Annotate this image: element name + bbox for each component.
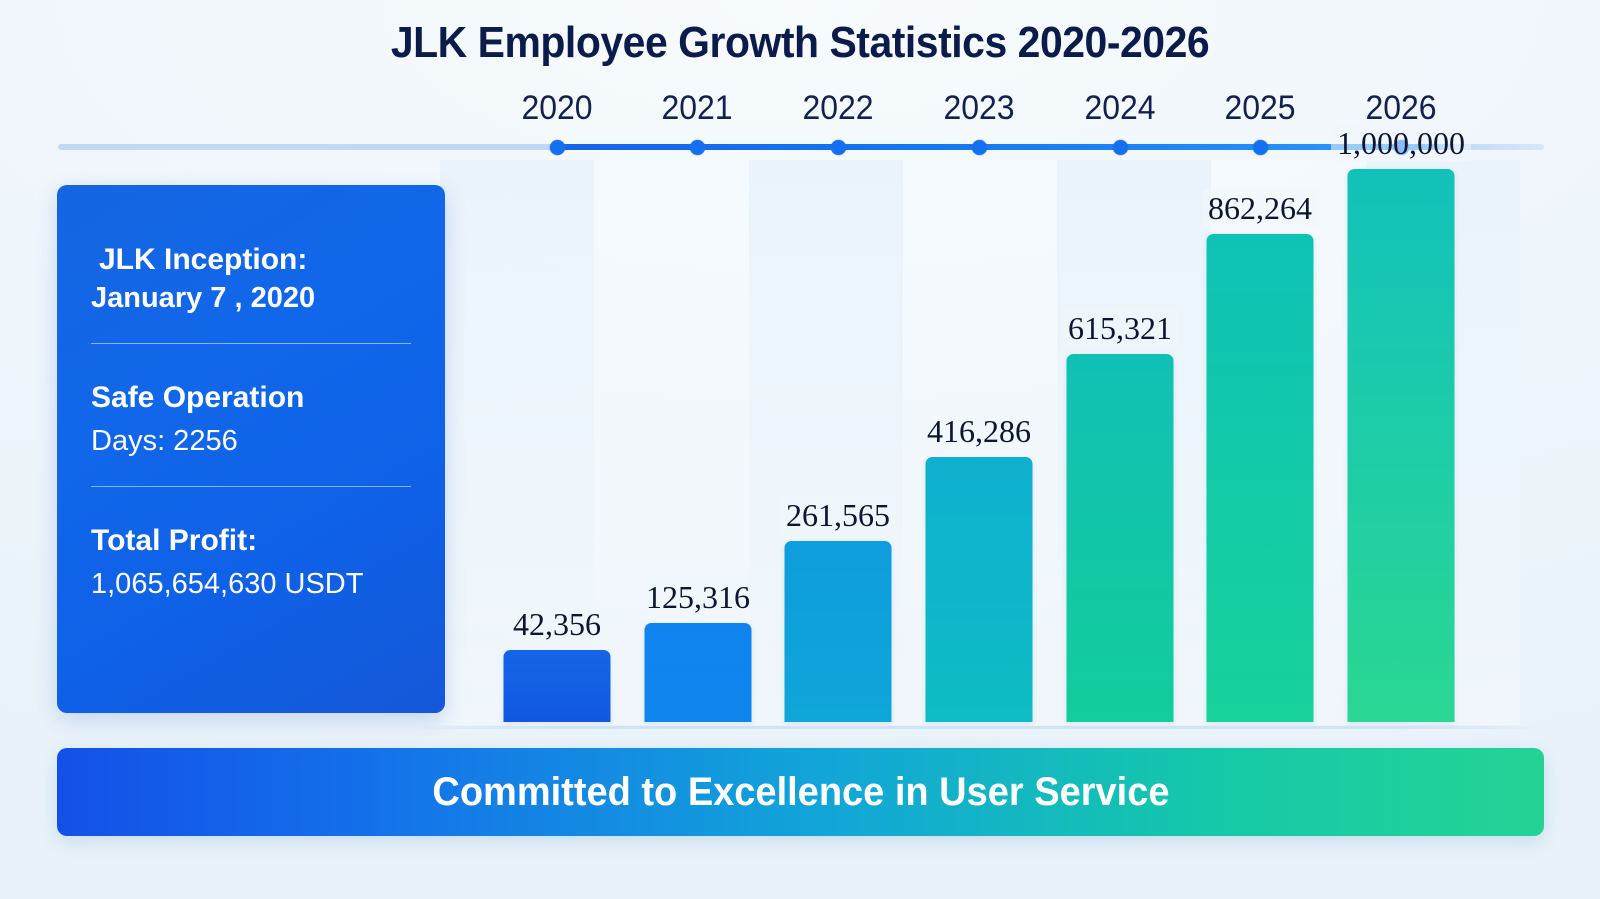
timeline-dot-icon — [550, 140, 565, 155]
info-card: JLK Inception: January 7 , 2020 Safe Ope… — [57, 185, 445, 713]
timeline-dot-icon — [972, 140, 987, 155]
timeline-dot-icon — [1253, 140, 1268, 155]
timeline-dot-icon — [690, 140, 705, 155]
bar-value-label: 125,316 — [640, 578, 756, 616]
bar-value-label: 615,321 — [1062, 309, 1178, 347]
infographic-root: JLK Employee Growth Statistics 2020-2026… — [0, 0, 1600, 899]
year-tick-2026[interactable]: 2026 — [1331, 88, 1471, 128]
bar-group-2020[interactable]: 42,356 — [480, 160, 634, 727]
footer-banner-text: Committed to Excellence in User Service — [432, 770, 1169, 815]
bar[interactable] — [645, 623, 752, 722]
page-title: JLK Employee Growth Statistics 2020-2026 — [56, 18, 1544, 68]
year-label: 2024 — [1054, 88, 1186, 128]
info-card-section-safe-days: Safe Operation Days: 2256 — [91, 370, 411, 460]
timeline-dot-icon — [1113, 140, 1128, 155]
year-tick-2022[interactable]: 2022 — [768, 88, 908, 128]
profit-value: 1,065,654,630 USDT — [91, 565, 411, 603]
bar-value-label: 416,286 — [921, 412, 1037, 450]
year-label: 2026 — [1335, 88, 1467, 128]
safe-days-value: Days: 2256 — [91, 422, 411, 460]
year-tick-2023[interactable]: 2023 — [909, 88, 1049, 128]
year-label: 2020 — [491, 88, 623, 128]
bar-value-label: 42,356 — [507, 605, 607, 643]
bar[interactable] — [504, 650, 611, 722]
card-divider — [91, 343, 411, 344]
bar-group-2023[interactable]: 416,286 — [902, 160, 1056, 727]
bar-chart-plot-area: 42,356 125,316 261,565 416,286 615,321 8… — [440, 160, 1520, 727]
year-tick-2021[interactable]: 2021 — [627, 88, 767, 128]
bar-value-label: 862,264 — [1202, 189, 1318, 227]
safe-days-label: Safe Operation — [91, 374, 411, 422]
bar[interactable] — [1348, 169, 1455, 722]
bar[interactable] — [1067, 354, 1174, 722]
year-label: 2023 — [913, 88, 1045, 128]
timeline-line — [58, 144, 1544, 150]
profit-label: Total Profit: — [91, 517, 411, 565]
bar[interactable] — [785, 541, 892, 722]
year-tick-2024[interactable]: 2024 — [1050, 88, 1190, 128]
info-card-section-inception: JLK Inception: January 7 , 2020 — [91, 237, 411, 317]
bar[interactable] — [1207, 234, 1314, 722]
year-label: 2022 — [772, 88, 904, 128]
bar-group-2025[interactable]: 862,264 — [1183, 160, 1337, 727]
card-divider — [91, 486, 411, 487]
bar[interactable] — [926, 457, 1033, 722]
year-tick-2020[interactable]: 2020 — [487, 88, 627, 128]
inception-label: JLK Inception: — [91, 241, 411, 279]
year-label: 2025 — [1194, 88, 1326, 128]
bar-group-2024[interactable]: 615,321 — [1043, 160, 1197, 727]
timeline-dot-icon — [831, 140, 846, 155]
year-label: 2021 — [631, 88, 763, 128]
bar-group-2026[interactable]: 1,000,000 — [1324, 160, 1478, 727]
bar-group-2021[interactable]: 125,316 — [621, 160, 775, 727]
bar-group-2022[interactable]: 261,565 — [761, 160, 915, 727]
inception-value: January 7 , 2020 — [91, 279, 411, 317]
footer-banner: Committed to Excellence in User Service — [57, 748, 1544, 836]
bar-value-label: 1,000,000 — [1331, 124, 1471, 162]
info-card-section-profit: Total Profit: 1,065,654,630 USDT — [91, 513, 411, 603]
bar-value-label: 261,565 — [780, 496, 896, 534]
chart-baseline — [420, 726, 1530, 729]
year-tick-2025[interactable]: 2025 — [1190, 88, 1330, 128]
